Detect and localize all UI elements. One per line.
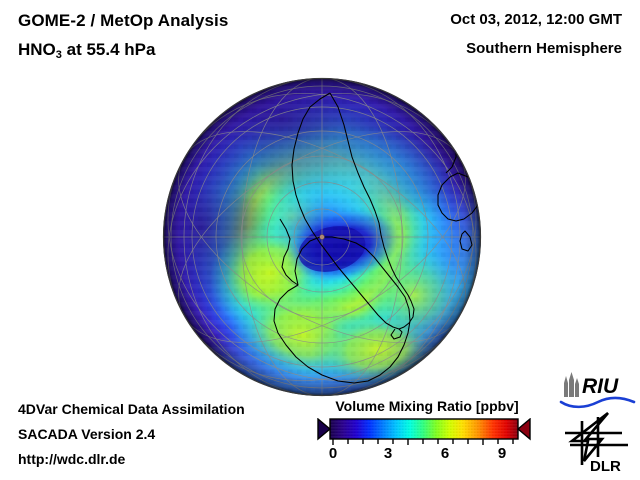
colorbar: Volume Mixing Ratio [ppbv]: [312, 398, 542, 476]
riu-logo-text: RIU: [582, 375, 619, 398]
colorbar-tick-label-9: 9: [498, 445, 506, 462]
riu-wave-icon: [561, 398, 634, 407]
dlr-logo: DLR: [562, 411, 636, 475]
colorbar-tick-label-6: 6: [441, 445, 449, 462]
limb-shading: [163, 78, 481, 396]
orthographic-projection-svg: [162, 77, 482, 397]
colorbar-min-arrow: [318, 419, 330, 439]
riu-tower-icon: [564, 372, 579, 397]
species-formula-subscript: 3: [56, 49, 62, 61]
version-label: SACADA Version 2.4: [18, 426, 155, 442]
colorbar-tick-label-0: 0: [329, 445, 337, 462]
coastline-falkland-islands: [210, 375, 222, 383]
dlr-logo-text: DLR: [590, 458, 621, 475]
colorbar-max-arrow: [518, 419, 530, 439]
riu-logo: RIU: [558, 371, 638, 411]
pressure-level-label: at 55.4 hPa: [62, 40, 156, 59]
colorbar-tick-label-3: 3: [384, 445, 392, 462]
method-label: 4DVar Chemical Data Assimilation: [18, 401, 245, 417]
colorbar-title: Volume Mixing Ratio [ppbv]: [312, 398, 542, 414]
source-url-label[interactable]: http://wdc.dlr.de: [18, 451, 125, 467]
observation-datetime: Oct 03, 2012, 12:00 GMT: [450, 11, 622, 28]
species-subtitle: HNO3 at 55.4 hPa: [18, 40, 155, 60]
globe-map: [162, 77, 482, 397]
species-formula-base: HNO: [18, 40, 56, 59]
colorbar-texture: [330, 419, 518, 439]
plot-canvas: GOME-2 / MetOp Analysis HNO3 at 55.4 hPa…: [0, 0, 640, 480]
page-title: GOME-2 / MetOp Analysis: [18, 11, 228, 31]
hemisphere-label: Southern Hemisphere: [466, 40, 622, 57]
colorbar-svg: [312, 418, 542, 452]
colorbar-ticks: [333, 439, 513, 445]
